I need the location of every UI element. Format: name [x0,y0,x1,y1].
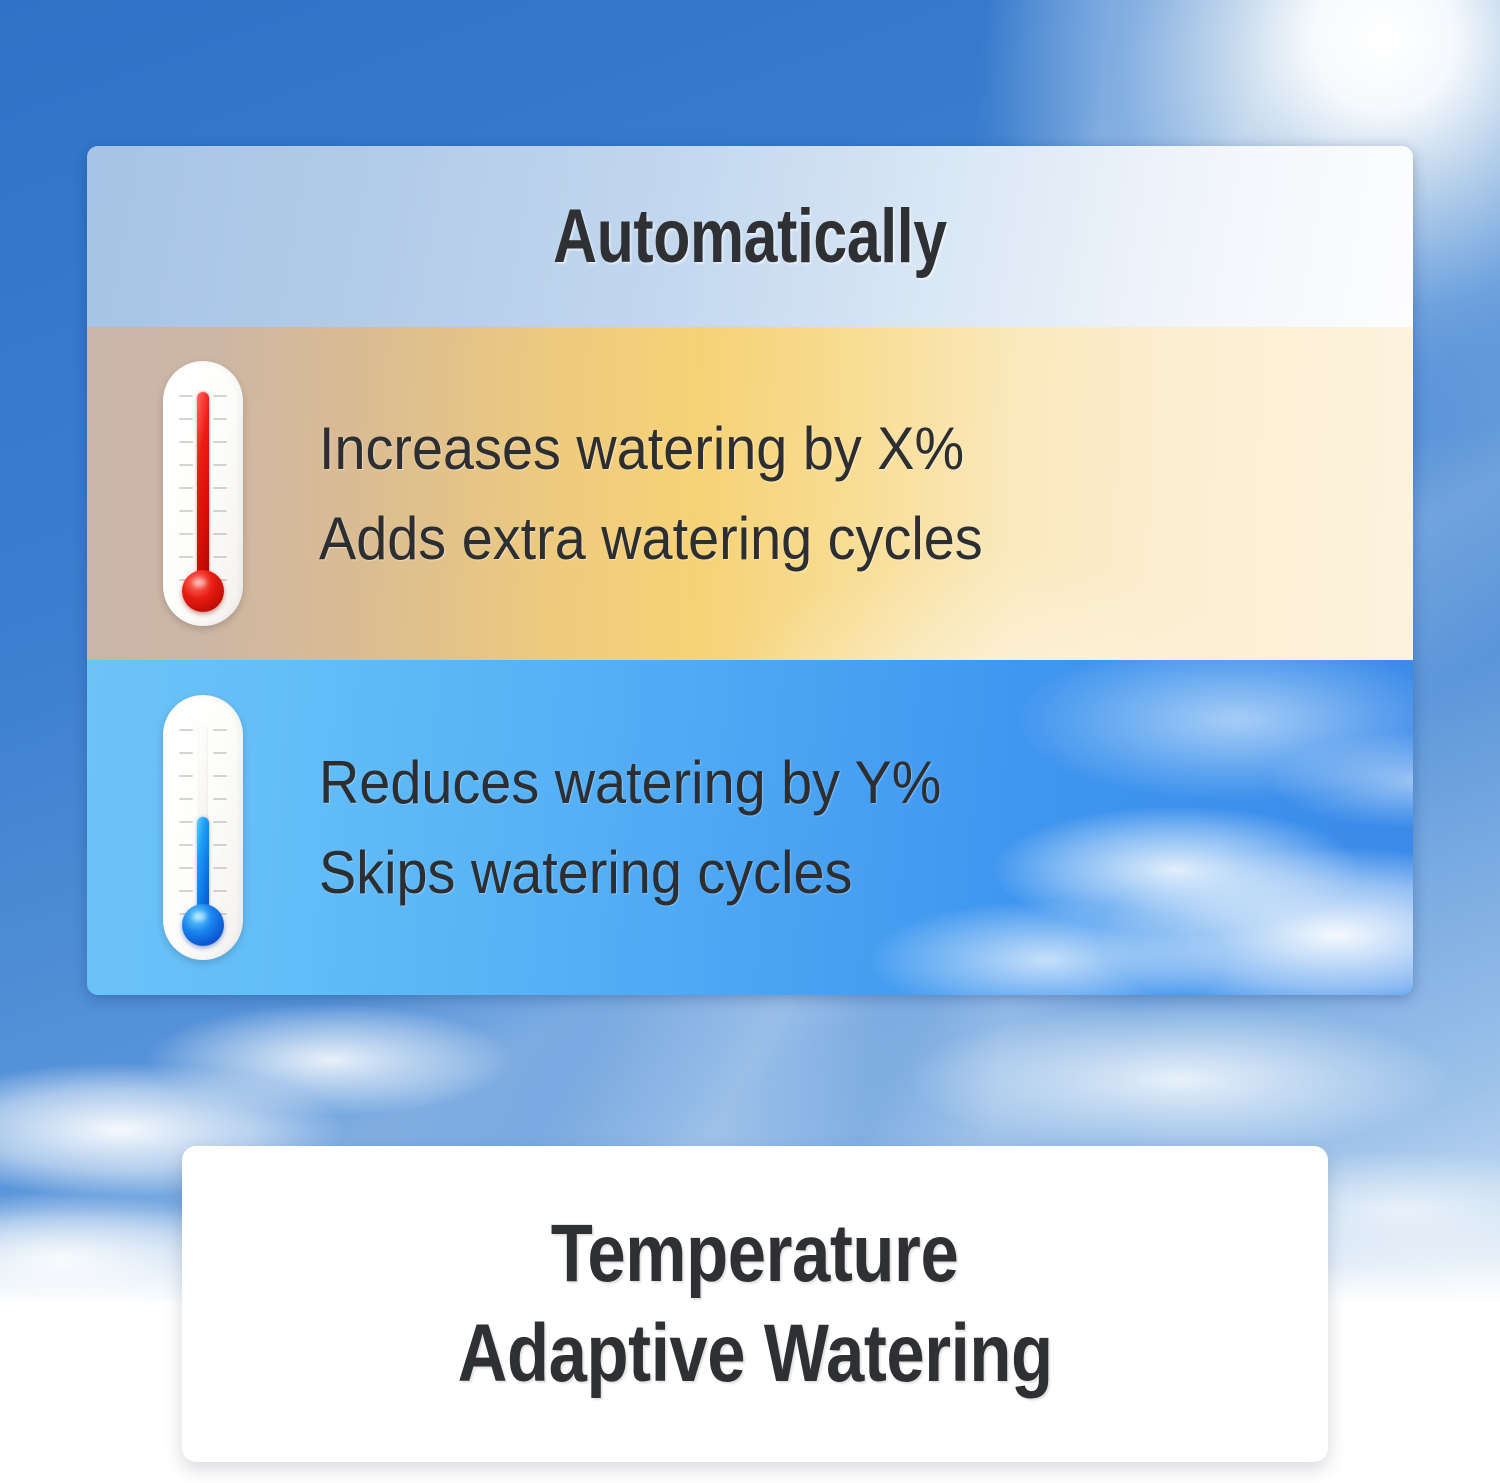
thermometer-mercury-hot [197,392,209,579]
panel-title: Automatically [553,193,946,280]
hot-band-line-1: Increases watering by X% [319,404,1299,494]
caption-card: Temperature Adaptive Watering [182,1146,1328,1462]
hot-thermometer-slot [87,361,319,626]
cold-band-line-2: Skips watering cycles [319,828,1299,918]
feature-panel: Automatically [87,146,1413,995]
thermometer-bulb-hot [182,570,224,612]
thermometer-bulb-cold [182,904,224,946]
hot-band-line-2: Adds extra watering cycles [319,494,1299,584]
cold-band-line-1: Reduces watering by Y% [319,738,1299,828]
cold-weather-band: Reduces watering by Y% Skips watering cy… [87,660,1413,995]
cold-band-text: Reduces watering by Y% Skips watering cy… [319,738,1413,918]
thermometer-mercury-cold [197,817,209,913]
hot-band-text: Increases watering by X% Adds extra wate… [319,404,1413,584]
blue-thermometer-icon [163,695,243,960]
cold-thermometer-slot [87,695,319,960]
panel-header-band: Automatically [87,146,1413,327]
cold-band-row: Reduces watering by Y% Skips watering cy… [87,660,1413,995]
hot-weather-band: Increases watering by X% Adds extra wate… [87,327,1413,660]
red-thermometer-icon [163,361,243,626]
caption-line-2: Adaptive Watering [457,1304,1052,1404]
hot-band-row: Increases watering by X% Adds extra wate… [87,327,1413,660]
caption-line-1: Temperature [551,1204,959,1304]
